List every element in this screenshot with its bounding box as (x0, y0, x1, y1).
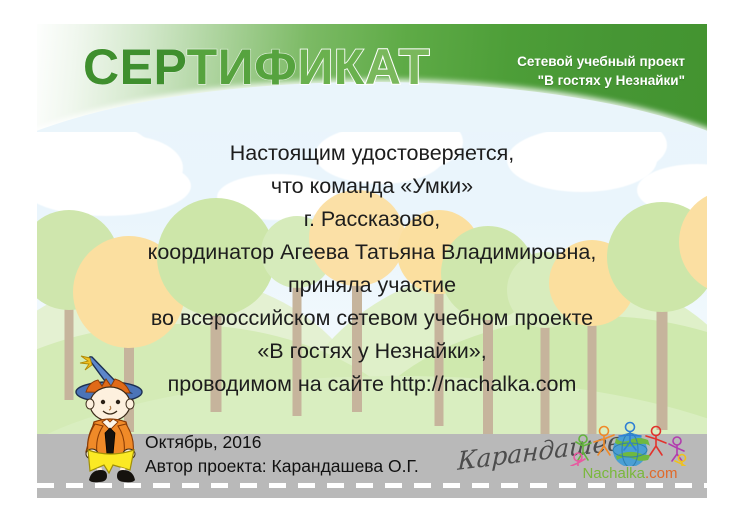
certificate-date: Октябрь, 2016 (145, 430, 419, 454)
certificate-title: СЕРТИФИКАТ (83, 42, 430, 92)
footer-text-block: Октябрь, 2016 Автор проекта: Карандашева… (145, 430, 419, 478)
body-line: приняла участие (37, 269, 707, 302)
body-line: Настоящим удостоверяется, (37, 137, 707, 170)
title-part-4: АТ (365, 39, 430, 95)
body-line: г. Рассказово, (37, 203, 707, 236)
body-line: во всероссийском сетевом учебном проекте (37, 302, 707, 335)
title-part-1: СЕР (83, 39, 187, 95)
project-line-2: "В гостях у Незнайки" (538, 73, 685, 88)
logo-domain-part: .com (645, 465, 678, 482)
certificate-author: Автор проекта: Карандашева О.Г. (145, 454, 419, 478)
body-line: что команда «Умки» (37, 170, 707, 203)
title-part-3: ИК (297, 39, 364, 95)
project-name-label: Сетевой учебный проект "В гостях у Незна… (517, 52, 685, 90)
logo-name-part: Nachalka (582, 465, 645, 482)
title-part-2: ТИФ (187, 39, 298, 95)
certificate-card: СЕРТИФИКАТ Сетевой учебный проект "В гос… (37, 24, 707, 498)
nachalka-logo[interactable]: Nachalka.com (569, 420, 691, 482)
body-line: координатор Агеева Татьяна Владимировна, (37, 236, 707, 269)
nachalka-logo-text: Nachalka.com (569, 465, 691, 482)
project-line-1: Сетевой учебный проект (517, 54, 685, 69)
